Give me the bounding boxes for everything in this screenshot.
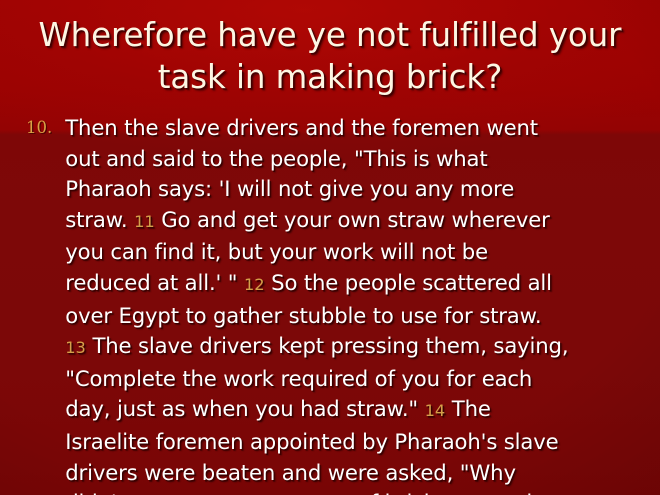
passage-text: Then the slave drivers and the foremen w… [65,115,538,140]
passage-line: day, just as when you had straw." 14 The [65,394,646,427]
passage-line: over Egypt to gather stubble to use for … [65,301,646,332]
title-line-2: task in making brick? [22,56,638,98]
passage-text: Israelite foremen appointed by Pharaoh's… [65,429,558,454]
passage-line: straw. 11 Go and get your own straw wher… [65,205,646,238]
passage-line: 13 The slave drivers kept pressing them,… [65,331,646,364]
passage-text: The slave drivers kept pressing them, sa… [86,333,569,358]
passage-text: "Complete the work required of you for e… [65,366,532,391]
passage-line: you can find it, but your work will not … [65,237,646,268]
passage-text: day, just as when you had straw." [65,396,424,421]
bullet-number: 10. [26,113,65,144]
passage-line: didn't you meet your quota of bricks yes… [65,488,646,495]
passage-text: over Egypt to gather stubble to use for … [65,303,541,328]
passage-text: So the people scattered all [265,270,552,295]
verse-number: 12 [244,275,265,294]
passage-text: reduced at all.' " [65,270,244,295]
scripture-passage: Then the slave drivers and the foremen w… [65,113,646,495]
slide-body: 10. Then the slave drivers and the forem… [26,113,646,495]
passage-line: Pharaoh says: 'I will not give you any m… [65,174,646,205]
passage-text: Go and get your own straw wherever [155,207,550,232]
passage-line: Then the slave drivers and the foremen w… [65,113,646,144]
verse-number: 11 [134,212,155,231]
passage-text: didn't you meet your quota of bricks yes… [65,490,557,495]
verse-number: 13 [65,338,86,357]
passage-line: reduced at all.' " 12 So the people scat… [65,268,646,301]
passage-line: out and said to the people, "This is wha… [65,144,646,175]
passage-text: straw. [65,207,134,232]
slide-title: Wherefore have ye not fulfilled your tas… [22,14,638,98]
passage-text: Pharaoh says: 'I will not give you any m… [65,176,514,201]
list-item: 10. Then the slave drivers and the forem… [26,113,646,495]
passage-line: drivers were beaten and were asked, "Why [65,458,646,489]
verse-number: 14 [425,401,446,420]
title-line-1: Wherefore have ye not fulfilled your [22,14,638,56]
passage-text: out and said to the people, "This is wha… [65,146,487,171]
passage-text: drivers were beaten and were asked, "Why [65,460,516,485]
passage-line: Israelite foremen appointed by Pharaoh's… [65,427,646,458]
passage-line: "Complete the work required of you for e… [65,364,646,395]
presentation-slide: Wherefore have ye not fulfilled your tas… [0,0,660,495]
passage-text: The [445,396,491,421]
passage-text: you can find it, but your work will not … [65,239,488,264]
